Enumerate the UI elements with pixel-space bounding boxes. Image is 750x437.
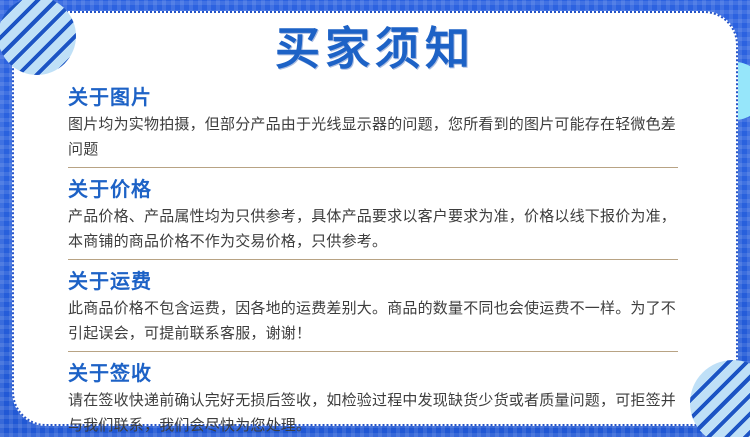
page-title: 买家须知 xyxy=(0,22,750,76)
notice-section-about-receipt: 关于签收 请在签收快递前确认完好无损后签收，如检验过程中发现缺货少货或者质量问题… xyxy=(68,360,678,437)
notice-section-about-images: 关于图片 图片均为实物拍摄，但部分产品由于光线显示器的问题，您所看到的图片可能存… xyxy=(68,84,678,168)
section-body: 产品价格、产品属性均为只供参考，具体产品要求以客户要求为准，价格以线下报价为准，… xyxy=(68,204,678,254)
section-heading: 关于运费 xyxy=(68,268,678,294)
section-heading: 关于价格 xyxy=(68,176,678,202)
poster-content: 买家须知 关于图片 图片均为实物拍摄，但部分产品由于光线显示器的问题，您所看到的… xyxy=(0,0,750,437)
section-heading: 关于图片 xyxy=(68,84,678,110)
section-body: 图片均为实物拍摄，但部分产品由于光线显示器的问题，您所看到的图片可能存在轻微色差… xyxy=(68,112,678,162)
section-heading: 关于签收 xyxy=(68,360,678,386)
section-body: 此商品价格不包含运费，因各地的运费差别大。商品的数量不同也会使运费不一样。为了不… xyxy=(68,296,678,346)
section-body: 请在签收快递前确认完好无损后签收，如检验过程中发现缺货少货或者质量问题，可拒签并… xyxy=(68,388,678,437)
notice-section-about-shipping: 关于运费 此商品价格不包含运费，因各地的运费差别大。商品的数量不同也会使运费不一… xyxy=(68,268,678,352)
notice-section-list: 关于图片 图片均为实物拍摄，但部分产品由于光线显示器的问题，您所看到的图片可能存… xyxy=(68,84,678,437)
buyer-notice-poster: 买家须知 关于图片 图片均为实物拍摄，但部分产品由于光线显示器的问题，您所看到的… xyxy=(0,0,750,437)
notice-section-about-price: 关于价格 产品价格、产品属性均为只供参考，具体产品要求以客户要求为准，价格以线下… xyxy=(68,176,678,260)
